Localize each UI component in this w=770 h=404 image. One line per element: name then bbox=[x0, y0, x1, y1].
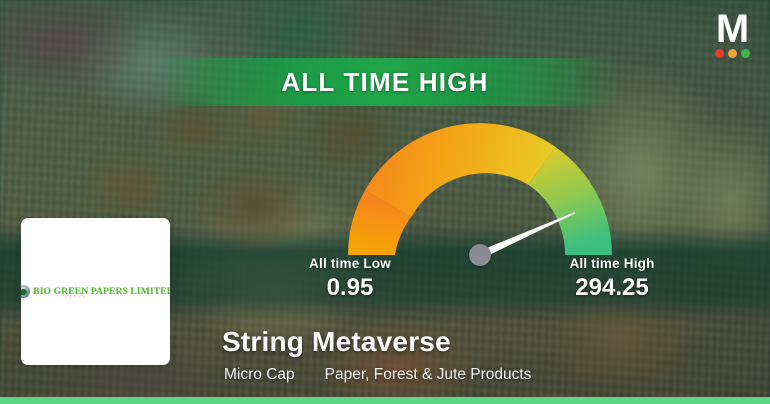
globe-leaf-icon bbox=[21, 285, 30, 298]
all-time-high-gauge bbox=[348, 123, 612, 255]
company-logo-wordmark: BIO GREEN PAPERS LIMITED bbox=[33, 286, 170, 297]
all-time-low-value: 0.95 bbox=[276, 274, 424, 302]
brand-dot-orange-icon bbox=[728, 49, 737, 58]
company-meta: Micro Cap Paper, Forest & Jute Products bbox=[224, 366, 531, 384]
all-time-low-caption: All time Low bbox=[276, 256, 424, 271]
brand-logo[interactable]: M bbox=[708, 12, 756, 58]
brand-dot-green-icon bbox=[741, 49, 750, 58]
all-time-high-label: All time High 294.25 bbox=[538, 256, 686, 302]
company-logo: BIO GREEN PAPERS LIMITED bbox=[21, 285, 170, 298]
gauge-arc bbox=[348, 123, 612, 255]
bottom-accent-bar bbox=[0, 397, 770, 404]
company-name: String Metaverse bbox=[222, 326, 451, 358]
all-time-high-value: 294.25 bbox=[538, 274, 686, 302]
company-logo-card: BIO GREEN PAPERS LIMITED PAPER bbox=[21, 218, 170, 365]
gauge-needle-hub bbox=[469, 244, 491, 266]
headline-text: ALL TIME HIGH bbox=[281, 67, 488, 98]
company-sector: Paper, Forest & Jute Products bbox=[325, 366, 532, 384]
brand-dot-red-icon bbox=[715, 49, 724, 58]
all-time-high-caption: All time High bbox=[538, 256, 686, 271]
brand-letter-m: M bbox=[708, 12, 756, 46]
all-time-low-label: All time Low 0.95 bbox=[276, 256, 424, 302]
brand-dots bbox=[708, 49, 756, 58]
headline-banner: ALL TIME HIGH bbox=[0, 58, 770, 106]
screenshot-canvas: M ALL TIME HIGH bbox=[0, 0, 770, 404]
company-market-cap: Micro Cap bbox=[224, 366, 295, 384]
company-logo-tagline: PAPER bbox=[65, 294, 87, 299]
